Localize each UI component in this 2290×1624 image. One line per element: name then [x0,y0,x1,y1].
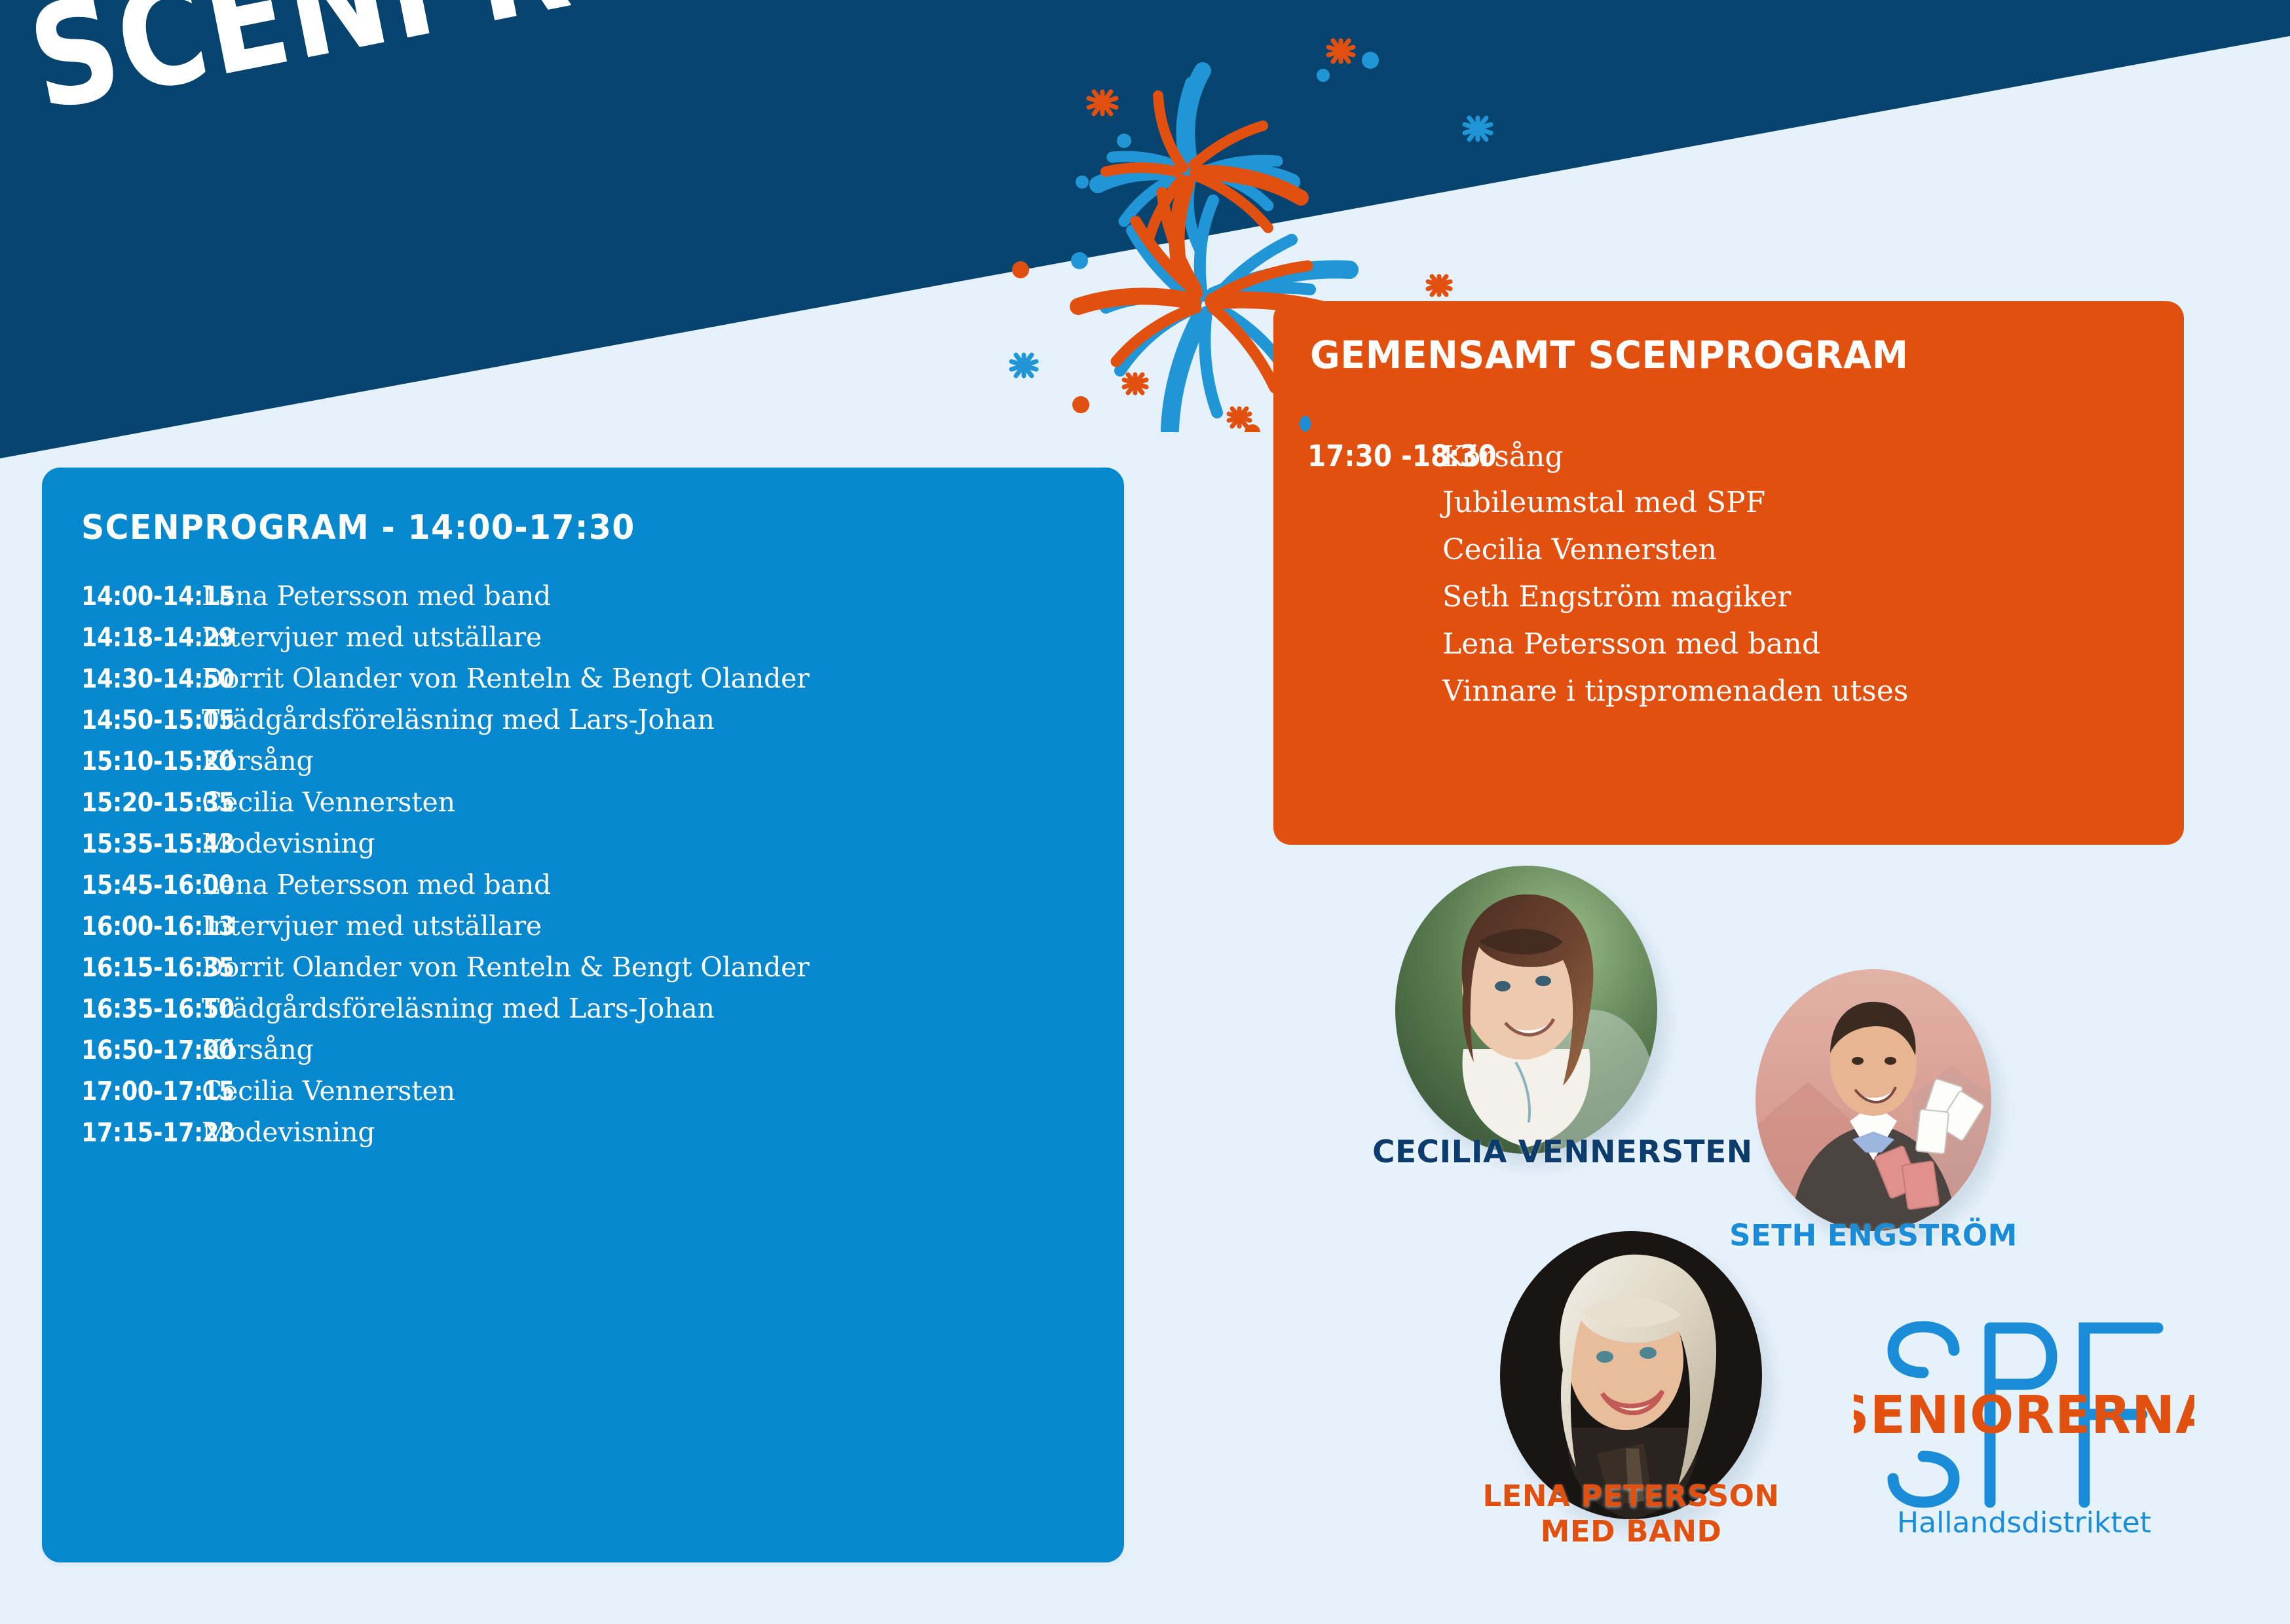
svg-text:SENIORERNA: SENIORERNA [1854,1385,2194,1445]
firework-dot-icon [1300,416,1311,432]
caption-cecilia-vennersten: CECILIA VENNERSTEN [1372,1134,1700,1170]
joint-program-row: Cecilia Vennersten [1307,533,1908,580]
schedule-row-time: 16:15-16:35 [81,953,194,983]
schedule-row-time: 14:00-14:15 [81,581,194,612]
joint-program-item: Seth Engström magiker [1442,580,1791,614]
schedule-row-time: 16:00-16:13 [81,912,194,942]
schedule-row: 16:35-16:50Trädgårdsföreläsning med Lars… [81,993,1104,1034]
caption-lena-petersson-line2: MED BAND [1467,1514,1795,1549]
schedule-row: 15:10-15:20Körsång [81,745,1104,786]
schedule-rows: 14:00-14:15Lena Petersson med band14:18-… [81,580,1104,1158]
schedule-row: 15:45-16:00Lena Petersson med band [81,869,1104,910]
schedule-row-time: 14:30-14:50 [81,664,194,694]
schedule-row-time: 14:50-15:05 [81,705,194,735]
schedule-row: 16:50-17:00Körsång [81,1034,1104,1075]
schedule-row-description: Trädgårdsföreläsning med Lars-Johan [202,993,715,1024]
joint-program-item: Cecilia Vennersten [1442,533,1717,566]
schedule-row: 14:18-14:29Intervjuer med utställare [81,621,1104,663]
schedule-row: 14:00-14:15Lena Petersson med band [81,580,1104,621]
avatar-lena-petersson [1500,1231,1762,1519]
schedule-heading: SCENPROGRAM - 14:00-17:30 [81,508,635,547]
joint-program-item: Jubileumstal med SPF [1442,486,1765,519]
joint-program-item: Vinnare i tipspromenaden utses [1442,674,1908,708]
schedule-row-time: 15:20-15:35 [81,788,194,818]
spf-logo: SENIORERNA Hallandsdistriktet [1854,1316,2194,1545]
joint-program-time: 17:30 -18:30 [1307,439,1433,473]
joint-program-item: Lena Petersson med band [1442,627,1820,661]
spf-logo-subtitle: Hallandsdistriktet [1854,1506,2194,1540]
schedule-row-time: 15:45-16:00 [81,870,194,900]
schedule-row-time: 15:35-15:43 [81,829,194,859]
schedule-row: 16:15-16:35Dorrit Olander von Renteln & … [81,951,1104,993]
schedule-row: 17:00-17:15Cecilia Vennersten [81,1075,1104,1116]
schedule-row: 17:15-17:23Modevisning [81,1116,1104,1158]
schedule-row-description: Dorrit Olander von Renteln & Bengt Oland… [202,951,810,983]
schedule-row: 15:35-15:43Modevisning [81,828,1104,869]
schedule-row-time: 17:15-17:23 [81,1118,194,1148]
schedule-row-description: Cecilia Vennersten [202,1075,455,1107]
schedule-row: 14:30-14:50Dorrit Olander von Renteln & … [81,663,1104,704]
schedule-row-time: 15:10-15:20 [81,747,194,777]
joint-program-heading: GEMENSAMT SCENPROGRAM [1310,333,1909,377]
caption-lena-petersson-line1: LENA PETERSSON [1467,1479,1795,1513]
schedule-row-description: Lena Petersson med band [202,580,551,612]
joint-program-row: Jubileumstal med SPF [1307,486,1908,533]
schedule-row-description: Trädgårdsföreläsning med Lars-Johan [202,704,715,735]
caption-seth-engstrom: SETH ENGSTRÖM [1716,1218,2031,1253]
schedule-row-time: 16:35-16:50 [81,994,194,1024]
joint-program-row: 17:30 -18:30Körsång [1307,439,1908,486]
joint-program-row: Vinnare i tipspromenaden utses [1307,674,1908,722]
joint-program-panel: GEMENSAMT SCENPROGRAM 17:30 -18:30Körsån… [1273,301,2184,845]
schedule-row: 14:50-15:05Trädgårdsföreläsning med Lars… [81,704,1104,745]
spf-wordmark-icon: SENIORERNA [1854,1316,2194,1513]
schedule-row-description: Cecilia Vennersten [202,786,455,818]
schedule-row: 15:20-15:35Cecilia Vennersten [81,786,1104,828]
schedule-row-description: Dorrit Olander von Renteln & Bengt Oland… [202,663,810,694]
joint-program-rows: 17:30 -18:30KörsångJubileumstal med SPFC… [1307,439,1908,722]
schedule-row-time: 16:50-17:00 [81,1035,194,1065]
poster-canvas: SCENPROGRAM [0,0,2290,1624]
schedule-panel: SCENPROGRAM - 14:00-17:30 14:00-14:15Len… [42,468,1124,1562]
schedule-row-description: Lena Petersson med band [202,869,551,900]
schedule-row-time: 17:00-17:15 [81,1077,194,1107]
schedule-row: 16:00-16:13Intervjuer med utställare [81,910,1104,951]
joint-program-row: Lena Petersson med band [1307,627,1908,674]
schedule-row-description: Intervjuer med utställare [202,621,542,653]
avatar-seth-engstrom [1755,969,1991,1231]
avatar-cecilia-vennersten [1395,866,1657,1154]
schedule-row-time: 14:18-14:29 [81,623,194,653]
joint-program-row: Seth Engström magiker [1307,580,1908,627]
schedule-row-description: Intervjuer med utställare [202,910,542,942]
